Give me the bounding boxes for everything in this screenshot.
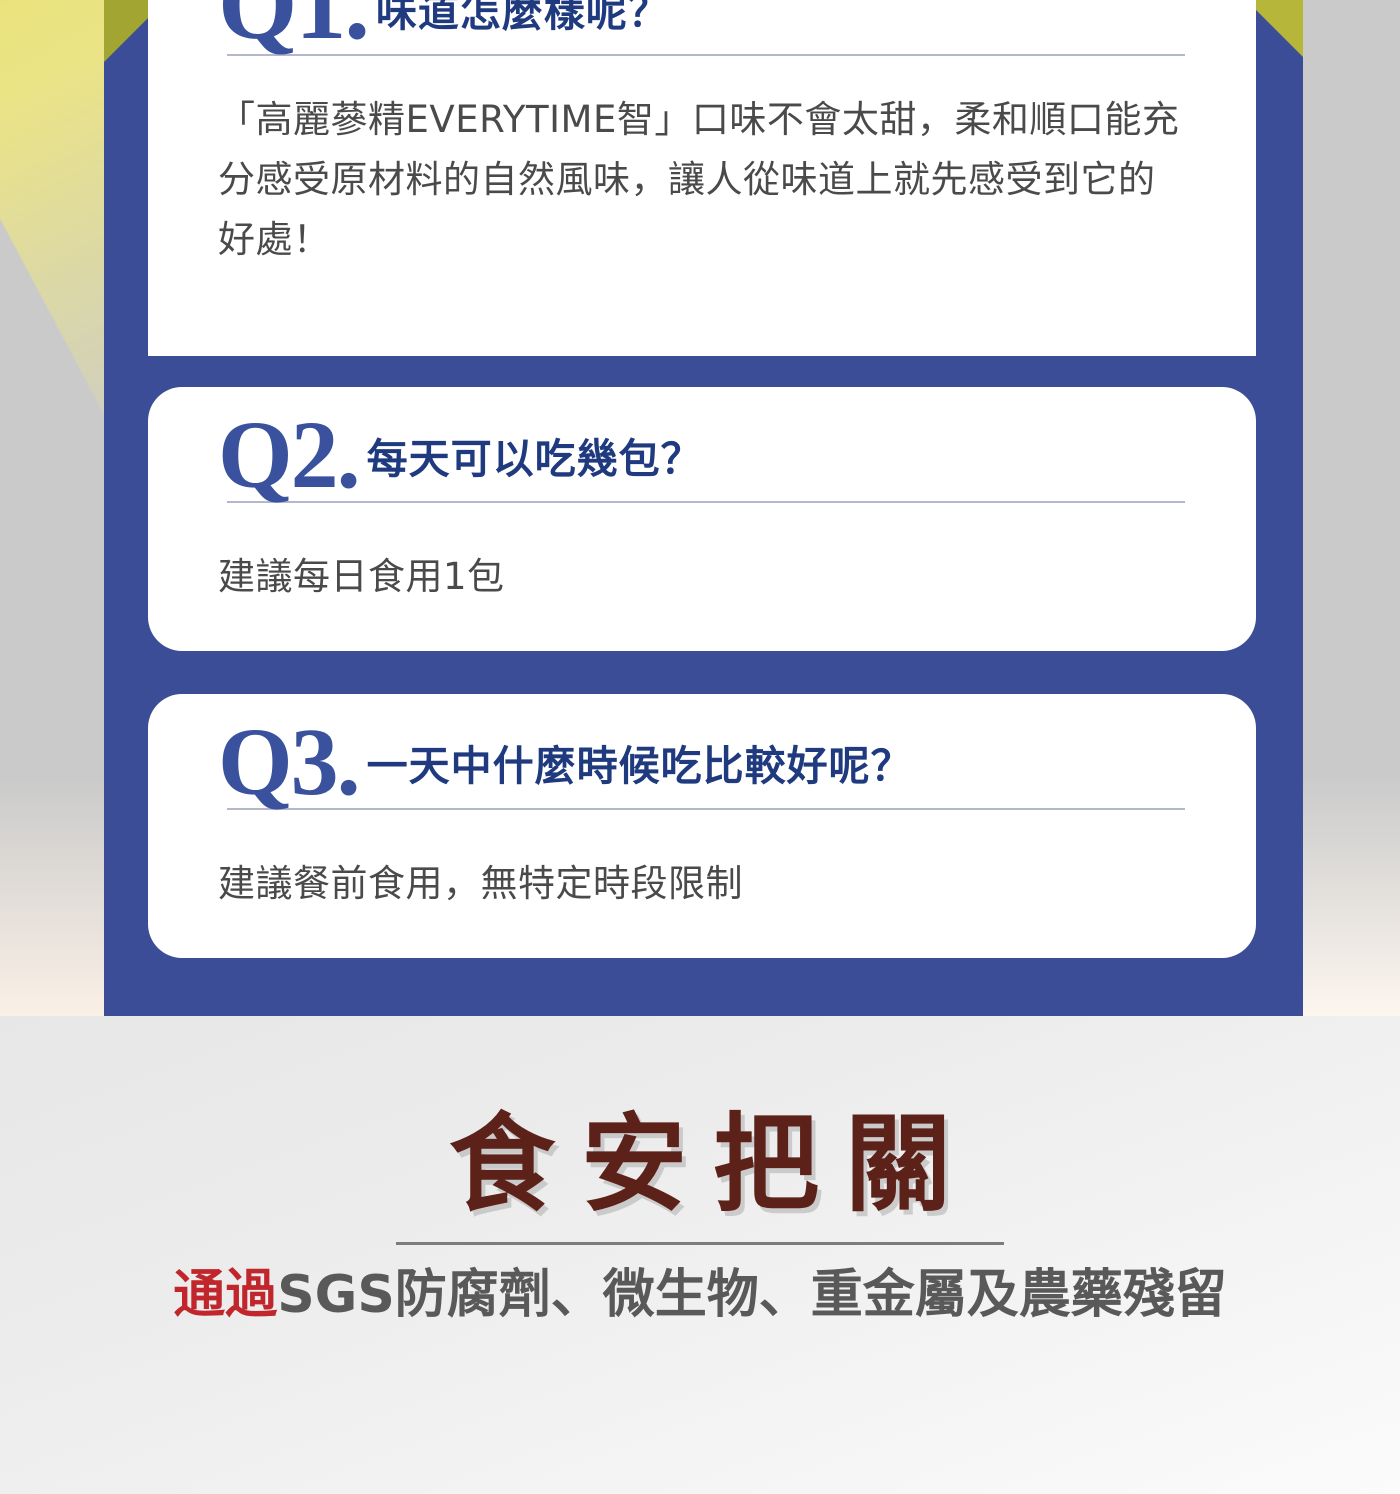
faq-q2-number: Q2. [218, 413, 359, 497]
faq-q1-title: 味道怎麼樣呢？ [368, 0, 670, 50]
faq-q1-divider [227, 54, 1185, 56]
food-safety-subtitle-rest: SGS防腐劑、微生物、重金屬及農藥殘留 [277, 1265, 1227, 1325]
faq-q3-divider [227, 808, 1185, 810]
faq-q1-body: 「高麗蔘精EVERYTIME智」口味不會太甜，柔和順口能充分感受原材料的自然風味… [218, 90, 1186, 270]
faq-q1-header: Q1. 味道怎麼樣呢？ [218, 0, 1186, 50]
faq-section: Q1. 味道怎麼樣呢？ 「高麗蔘精EVERYTIME智」口味不會太甜，柔和順口能… [0, 0, 1400, 1016]
faq-q3-number: Q3. [218, 720, 359, 804]
food-safety-subtitle: 通過SGS防腐劑、微生物、重金屬及農藥殘留 [0, 1264, 1400, 1326]
faq-card-q1: Q1. 味道怎麼樣呢？ 「高麗蔘精EVERYTIME智」口味不會太甜，柔和順口能… [148, 0, 1256, 356]
product-detail-page: Q1. 味道怎麼樣呢？ 「高麗蔘精EVERYTIME智」口味不會太甜，柔和順口能… [0, 0, 1400, 1494]
faq-q1-number: Q1. [218, 0, 368, 50]
faq-q2-header: Q2. 每天可以吃幾包？ [218, 387, 1186, 497]
faq-q2-title: 每天可以吃幾包？ [359, 425, 703, 497]
faq-q2-divider [227, 501, 1185, 503]
faq-q3-body: 建議餐前食用，無特定時段限制 [218, 854, 1186, 914]
food-safety-subtitle-highlight: 通過 [173, 1265, 277, 1325]
faq-q3-header: Q3. 一天中什麼時候吃比較好呢？ [218, 694, 1186, 804]
food-safety-divider [396, 1242, 1004, 1245]
cream-glow-right [1303, 776, 1400, 1016]
food-safety-section: 食安把關 SGS 測試報告 FUF24T06764 超微量工業安全實驗室 Ult… [0, 1016, 1400, 1494]
faq-q3-title: 一天中什麼時候吃比較好呢？ [359, 732, 913, 804]
food-safety-title: 食安把關 [0, 1112, 1400, 1218]
faq-card-q3: Q3. 一天中什麼時候吃比較好呢？ 建議餐前食用，無特定時段限制 [148, 694, 1256, 958]
faq-card-q2: Q2. 每天可以吃幾包？ 建議每日食用1包 [148, 387, 1256, 651]
faq-q2-body: 建議每日食用1包 [218, 547, 1186, 607]
